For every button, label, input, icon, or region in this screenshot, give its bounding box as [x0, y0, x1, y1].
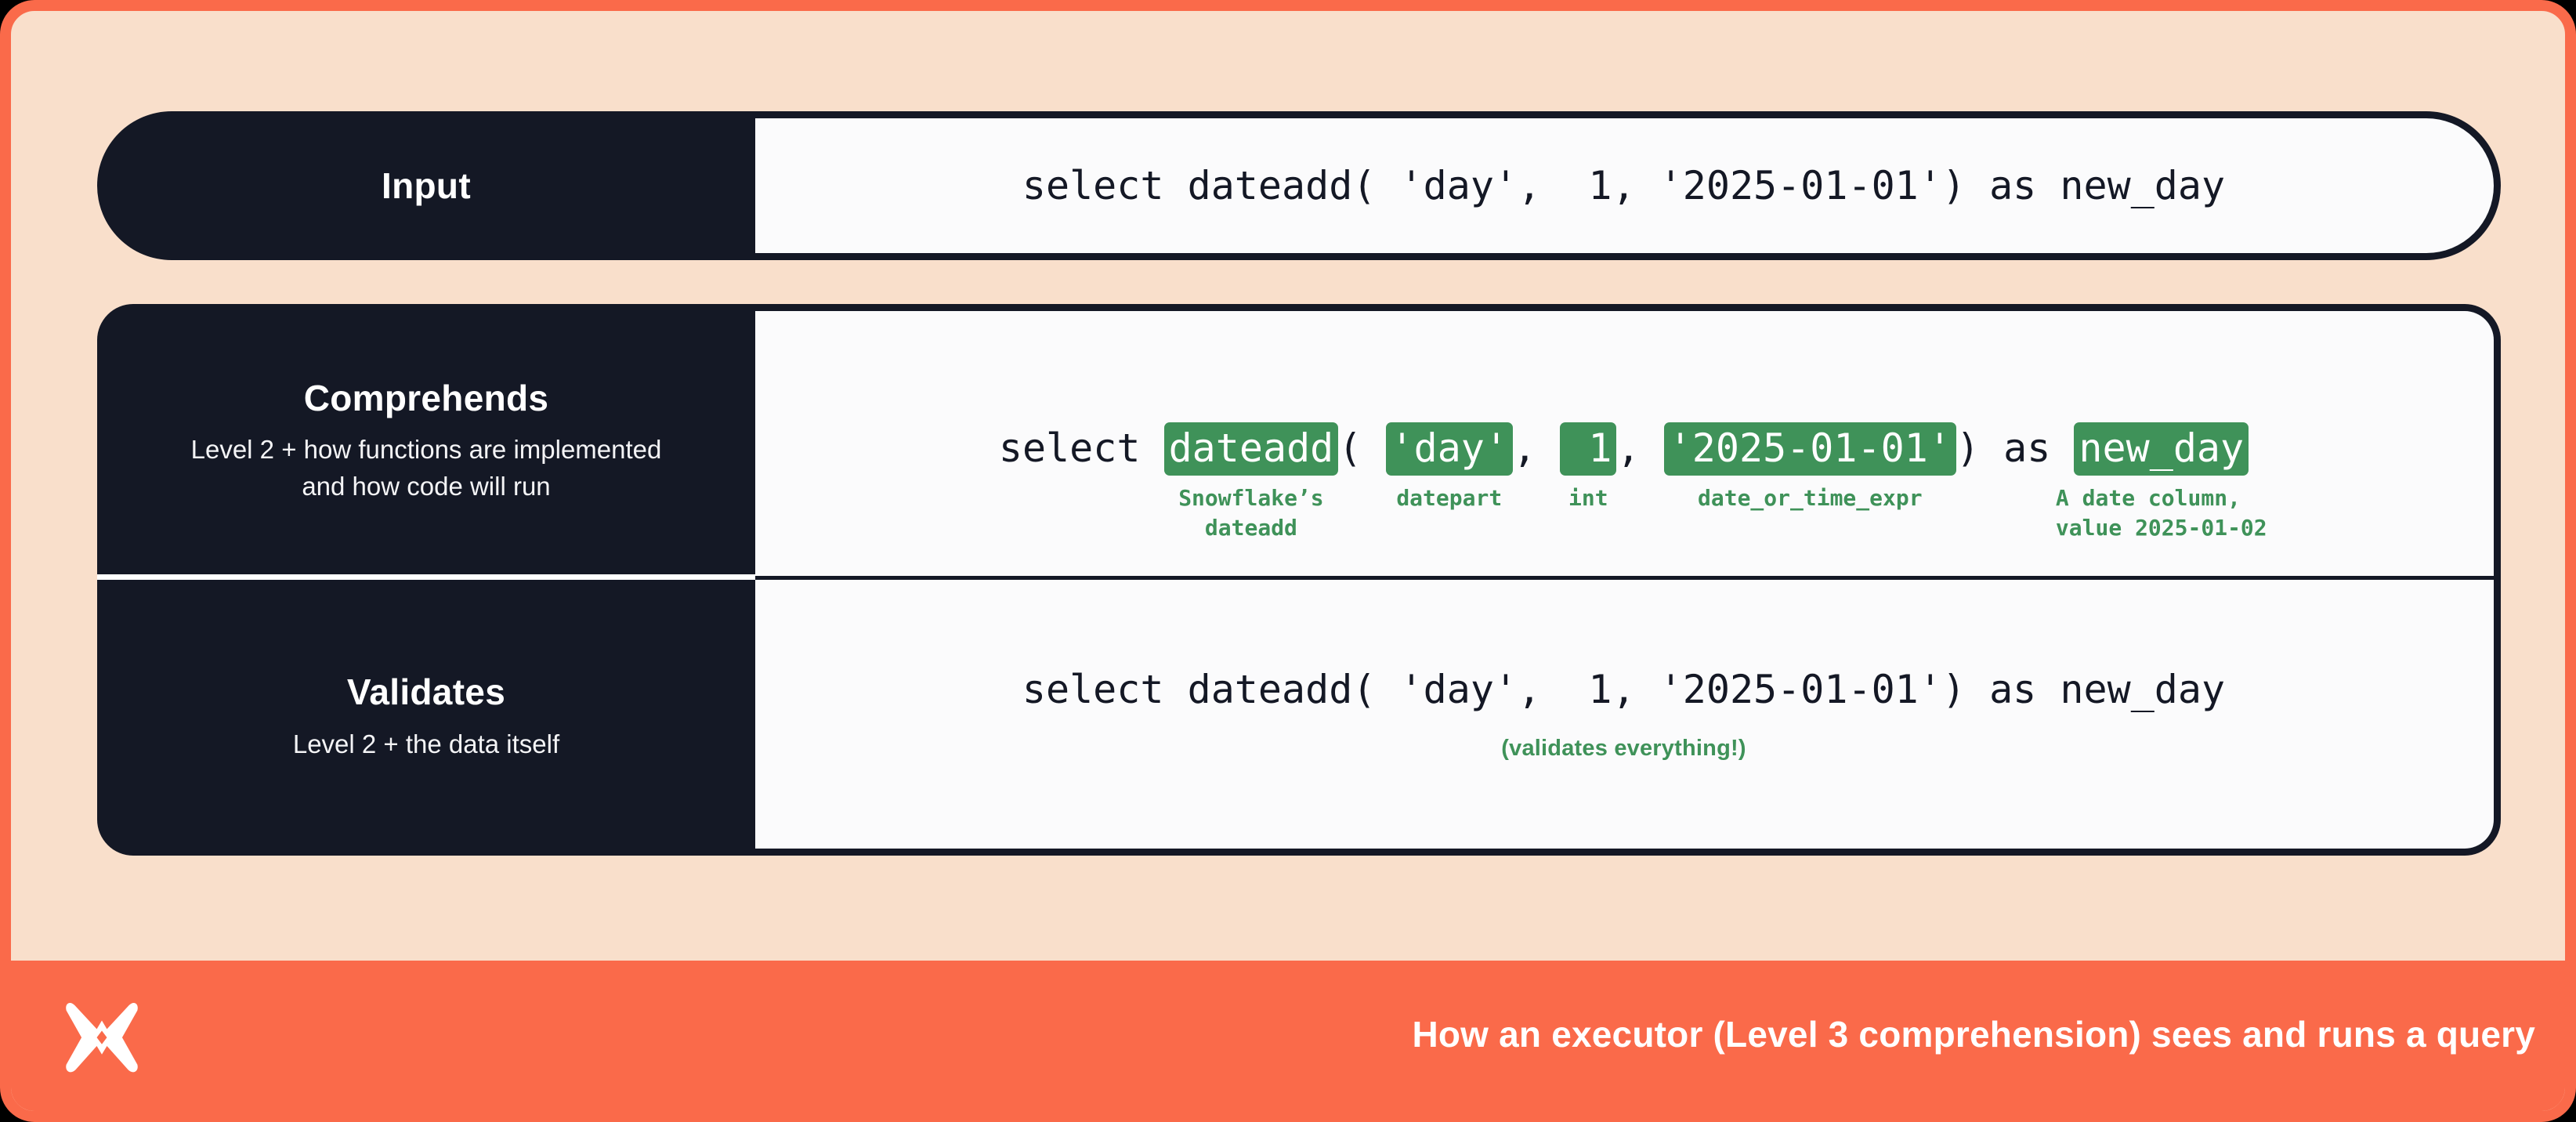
code-token: (	[1338, 422, 1385, 476]
code-token-text: '2025-01-01'	[1664, 422, 1956, 476]
code-token-highlighted: 1int	[1560, 422, 1616, 476]
validates-row-label: Validates Level 2 + the data itself	[97, 580, 755, 856]
input-row-label: Input	[97, 111, 755, 260]
footer-bar: How an executor (Level 3 comprehension) …	[11, 961, 2576, 1111]
code-token: ) as	[1956, 422, 2075, 476]
code-token-text: ) as	[1956, 422, 2075, 476]
x-mark-logo-icon	[60, 994, 144, 1078]
validates-note-text: (validates everything!)	[1501, 736, 1746, 762]
code-token-annotation: Snowflake’s dateadd	[1178, 483, 1323, 542]
comprehends-row: Comprehends Level 2 + how functions are …	[97, 304, 2501, 580]
code-token: select	[999, 422, 1164, 476]
code-token-text: 1	[1560, 422, 1616, 476]
code-token-text: select	[999, 422, 1164, 476]
validates-label-sub: Level 2 + the data itself	[293, 726, 559, 763]
code-token-text: dateadd	[1164, 422, 1339, 476]
input-label-text: Input	[382, 165, 471, 207]
input-code-text: select dateadd( 'day', 1, '2025-01-01') …	[1022, 163, 2225, 208]
code-token: ,	[1616, 422, 1663, 476]
code-token-highlighted: new_dayA date column, value 2025-01-02	[2074, 422, 2249, 476]
code-token-text: 'day'	[1386, 422, 1514, 476]
code-token-annotation: A date column, value 2025-01-02	[2056, 483, 2267, 542]
validates-row: Validates Level 2 + the data itself sele…	[97, 580, 2501, 856]
code-token-text: new_day	[2074, 422, 2249, 476]
code-token-highlighted: '2025-01-01'date_or_time_expr	[1664, 422, 1956, 476]
code-token-text: ,	[1513, 422, 1560, 476]
code-token-annotation: int	[1568, 483, 1608, 513]
validates-label-title: Validates	[347, 672, 505, 712]
code-token-annotation: datepart	[1396, 483, 1502, 513]
code-token: ,	[1513, 422, 1560, 476]
validates-code-text: select dateadd( 'day', 1, '2025-01-01') …	[1022, 667, 2225, 712]
code-token-text: (	[1338, 422, 1385, 476]
footer-caption: How an executor (Level 3 comprehension) …	[1412, 1013, 2535, 1059]
lower-block: Comprehends Level 2 + how functions are …	[97, 304, 2501, 856]
code-token-highlighted: dateaddSnowflake’s dateadd	[1164, 422, 1339, 476]
input-row: Input select dateadd( 'day', 1, '2025-01…	[97, 111, 2501, 260]
comprehends-annotated-code: select dateaddSnowflake’s dateadd( 'day'…	[999, 422, 2249, 476]
comprehends-label-title: Comprehends	[304, 378, 549, 418]
code-token-text: ,	[1616, 422, 1663, 476]
input-row-code-pane: select dateadd( 'day', 1, '2025-01-01') …	[754, 111, 2501, 260]
comprehends-row-label: Comprehends Level 2 + how functions are …	[97, 304, 755, 580]
code-token-highlighted: 'day'datepart	[1386, 422, 1514, 476]
comprehension-levels-diagram: Input select dateadd( 'day', 1, '2025-01…	[97, 111, 2501, 856]
code-token-annotation: date_or_time_expr	[1698, 483, 1923, 513]
comprehends-label-sub: Level 2 + how functions are implementeda…	[191, 432, 662, 505]
infographic-card: Input select dateadd( 'day', 1, '2025-01…	[0, 0, 2576, 1122]
validates-code-pane: select dateadd( 'day', 1, '2025-01-01') …	[754, 580, 2501, 856]
comprehends-code-pane: select dateaddSnowflake’s dateadd( 'day'…	[754, 304, 2501, 580]
